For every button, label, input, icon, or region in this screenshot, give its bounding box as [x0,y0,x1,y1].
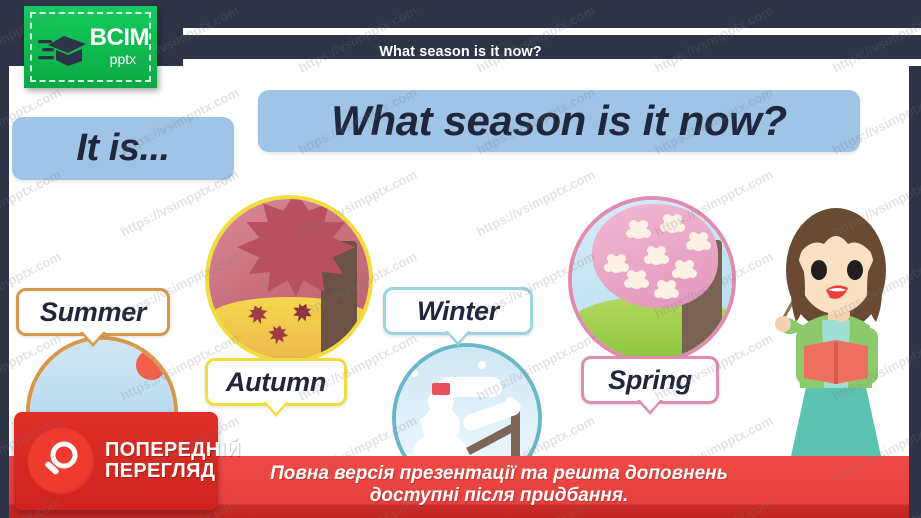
bubble-tail-fill [266,402,286,413]
magnifier-icon [28,428,94,494]
bubble-tail-fill [640,400,660,411]
season-label-summer[interactable]: Summer [16,288,170,336]
season-image-autumn[interactable] [205,195,373,363]
logo-secondary-text: pptx [110,50,149,70]
snowflake-icon [478,361,486,369]
snowman-hat [432,383,450,395]
snowflake-icon [506,397,514,405]
logo-text: BCIM pptx [90,26,149,70]
teacher-character [756,198,916,488]
snowflake-icon [410,369,418,377]
slide-prompt: It is... [76,127,169,170]
season-image-spring[interactable] [568,196,736,364]
blossom-flower-icon [664,216,681,233]
slide-prompt-box: It is... [12,117,234,180]
preview-badge[interactable]: ПОПЕРЕДНІЙ ПЕРЕГЛЯД [14,412,218,510]
preview-badge-line2: ПЕРЕГЛЯД [105,461,241,482]
logo-inner: BCIM pptx [24,6,157,88]
season-label-spring[interactable]: Spring [581,356,719,404]
graduation-cap-icon [38,30,100,70]
logo-primary-text: BCIM [90,26,149,50]
snowflake-icon [458,443,466,451]
bubble-tail-fill [83,332,103,343]
bubble-tail-fill [448,331,468,342]
season-label-text: Spring [608,365,692,396]
season-label-text: Summer [40,297,146,328]
preview-badge-text: ПОПЕРЕДНІЙ ПЕРЕГЛЯД [105,440,241,482]
header-notch-top [183,28,921,35]
blossom-flower-icon [630,222,647,239]
slide-title-box: What season is it now? [258,90,860,152]
header-notch-bottom [183,59,921,66]
blossom-flower-icon [628,272,645,289]
snowflake-icon [420,417,428,425]
preview-badge-line1: ПОПЕРЕДНІЙ [105,440,241,461]
season-label-autumn[interactable]: Autumn [205,358,347,406]
season-label-text: Autumn [226,367,326,398]
bottom-banner-text: Повна версія презентації та решта доповн… [190,463,728,508]
blossom-flower-icon [676,262,693,279]
screenshot-stage: What season is it now? BCIM pptx [0,0,921,518]
bottom-banner-line1: Повна версія презентації та решта доповн… [270,463,728,485]
bottom-banner-line2: доступні після придбання. [270,485,728,507]
blossom-flower-icon [690,234,707,251]
season-label-text: Winter [417,296,499,327]
blossom-flower-icon [648,248,665,265]
blossom-flower-icon [608,256,625,273]
sun-icon [136,350,166,380]
bcim-pptx-logo[interactable]: BCIM pptx [24,6,157,88]
blossom-flower-icon [658,282,675,299]
season-label-winter[interactable]: Winter [383,287,533,335]
slide-title: What season is it now? [331,97,787,145]
